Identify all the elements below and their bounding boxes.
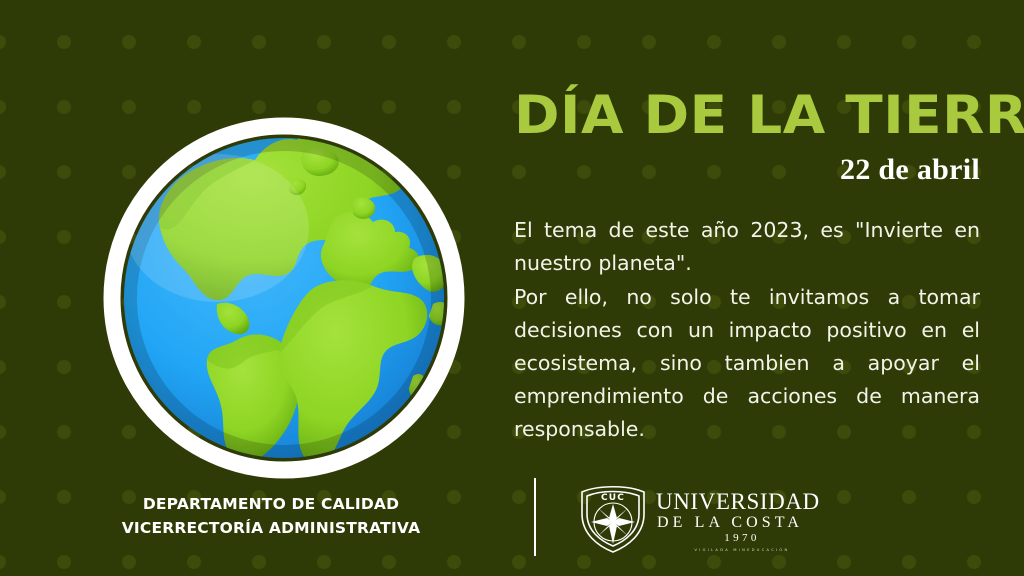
earth-globe-icon — [97, 108, 471, 482]
body-paragraph-1: El tema de este año 2023, es "Invierte e… — [514, 214, 980, 280]
logo-name-line-2: DE LA COSTA — [657, 514, 803, 531]
earth-day-poster: DÍA DE LA TIERRA 22 de abril El tema de … — [0, 0, 1024, 576]
department-line-2: VICERRECTORÍA ADMINISTRATIVA — [36, 516, 506, 540]
body-copy: El tema de este año 2023, es "Invierte e… — [514, 214, 980, 446]
page-title: DÍA DE LA TIERRA — [514, 88, 996, 143]
department-line-1: DEPARTAMENTO DE CALIDAD — [36, 492, 506, 516]
logo-name-line-1: UNIVERSIDAD — [656, 489, 820, 514]
shield-monogram-text: CUC — [601, 493, 625, 503]
logo-year: 1970 — [724, 532, 760, 544]
universidad-de-la-costa-logo: CUC UNIVERSIDAD DE LA COSTA — [574, 480, 824, 556]
subtitle-date: 22 de abril — [514, 153, 980, 186]
footer-divider — [534, 478, 536, 556]
body-paragraph-2: Por ello, no solo te invitamos a tomar d… — [514, 281, 980, 447]
poster-footer: DEPARTAMENTO DE CALIDAD VICERRECTORÍA AD… — [0, 476, 1024, 562]
logo-tagline: VIGILADA MINEDUCACIÓN — [694, 547, 789, 552]
poster-content: DÍA DE LA TIERRA 22 de abril El tema de … — [514, 88, 980, 447]
department-block: DEPARTAMENTO DE CALIDAD VICERRECTORÍA AD… — [36, 492, 506, 540]
